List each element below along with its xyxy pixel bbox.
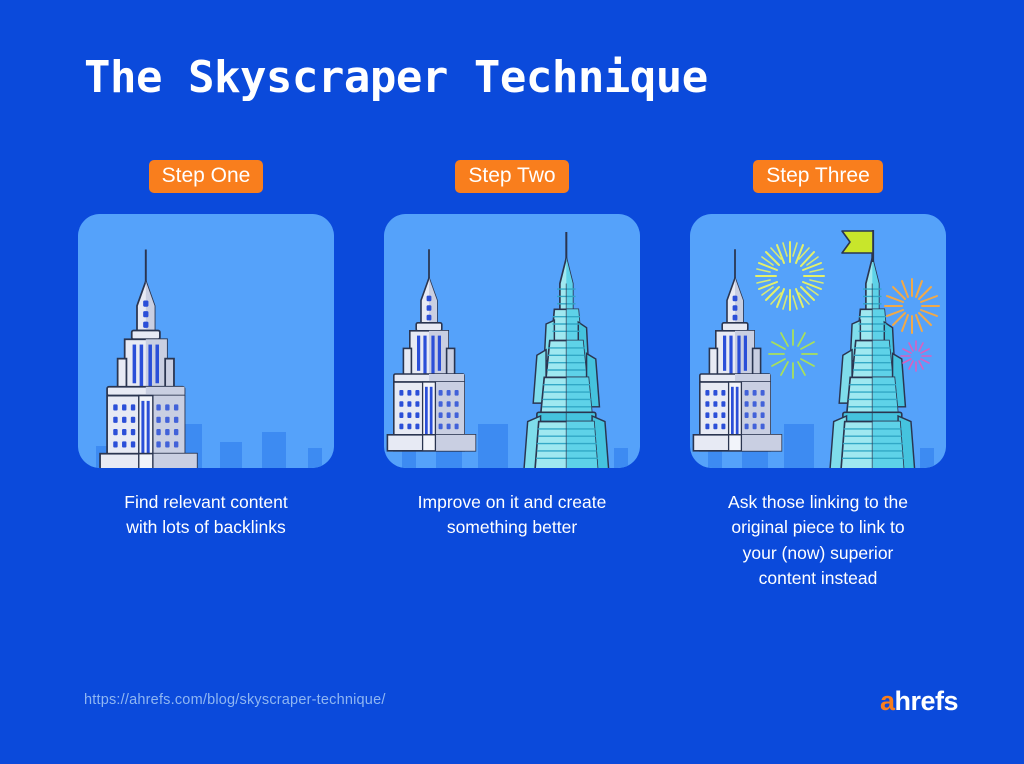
illustration-step-two	[384, 214, 640, 468]
badge-wrap-three: Step Three	[690, 160, 946, 198]
infographic-root: The Skyscraper Technique Step One	[0, 0, 1024, 764]
caption-line: Improve on it and create	[384, 490, 640, 515]
caption-line: content instead	[690, 566, 946, 591]
step-caption-one: Find relevant content with lots of backl…	[78, 490, 334, 541]
ahrefs-logo[interactable]: ahrefs	[880, 688, 958, 715]
step-badge-one: Step One	[149, 160, 264, 193]
badge-wrap-two: Step Two	[384, 160, 640, 198]
step-badge-three: Step Three	[753, 160, 883, 193]
step-column-two: Step Two	[384, 160, 640, 541]
step-badge-two: Step Two	[455, 160, 568, 193]
caption-line: with lots of backlinks	[78, 515, 334, 540]
illustration-card-three	[690, 214, 946, 468]
illustration-step-one	[78, 214, 334, 468]
caption-line: original piece to link to	[690, 515, 946, 540]
step-column-three: Step Three	[690, 160, 946, 592]
illustration-card-two	[384, 214, 640, 468]
page-title: The Skyscraper Technique	[84, 52, 708, 103]
caption-line: your (now) superior	[690, 541, 946, 566]
caption-line: Find relevant content	[78, 490, 334, 515]
logo-wordmark: hrefs	[894, 686, 958, 716]
badge-wrap-one: Step One	[78, 160, 334, 198]
step-caption-two: Improve on it and create something bette…	[384, 490, 640, 541]
caption-line: Ask those linking to the	[690, 490, 946, 515]
caption-line: something better	[384, 515, 640, 540]
source-url[interactable]: https://ahrefs.com/blog/skyscraper-techn…	[84, 692, 386, 708]
illustration-step-three	[690, 214, 946, 468]
logo-accent-letter: a	[880, 686, 895, 716]
illustration-card-one	[78, 214, 334, 468]
step-column-one: Step One	[78, 160, 334, 541]
step-caption-three: Ask those linking to the original piece …	[690, 490, 946, 592]
